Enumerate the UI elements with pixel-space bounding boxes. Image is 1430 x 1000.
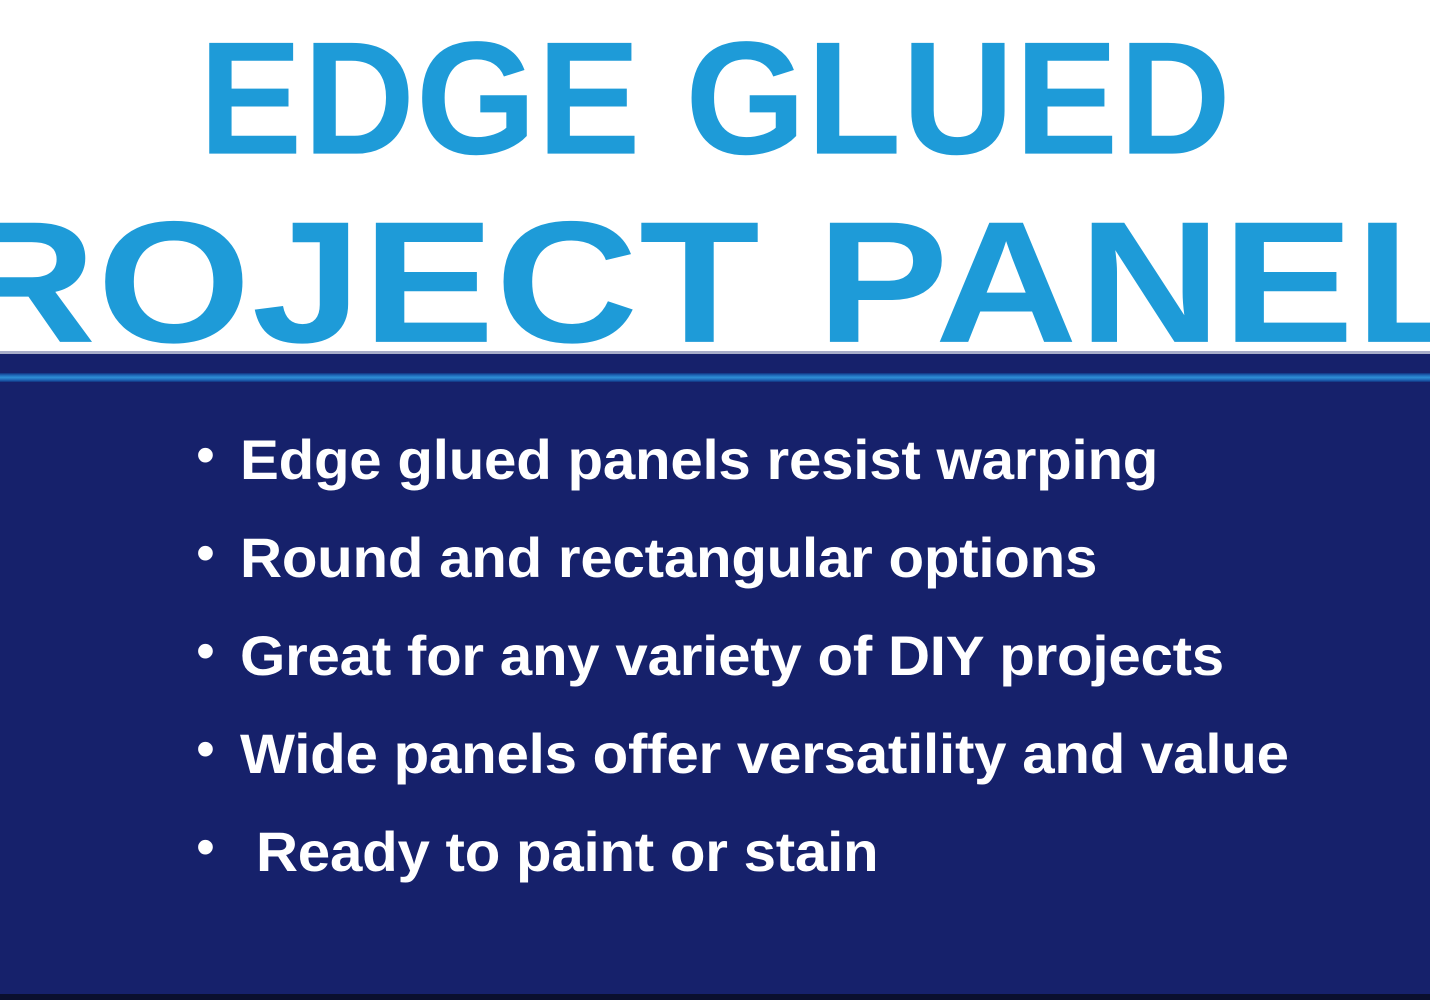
poster-header: EDGE GLUED PROJECT PANELS bbox=[0, 0, 1430, 353]
list-item-label: Great for any variety of DIY projects bbox=[240, 628, 1224, 684]
list-item-label: Round and rectangular options bbox=[240, 530, 1097, 586]
list-item: • Great for any variety of DIY projects bbox=[196, 628, 1416, 726]
bullet-point-icon: • bbox=[196, 525, 240, 581]
accent-stripe bbox=[0, 373, 1430, 382]
list-item-label: Ready to paint or stain bbox=[240, 824, 878, 880]
list-item: • Edge glued panels resist warping bbox=[196, 432, 1416, 530]
list-item: • Wide panels offer versatility and valu… bbox=[196, 726, 1416, 824]
bullet-point-icon: • bbox=[196, 427, 240, 483]
list-item-label: Edge glued panels resist warping bbox=[240, 432, 1158, 488]
bullet-point-icon: • bbox=[196, 623, 240, 679]
bullet-point-icon: • bbox=[196, 819, 240, 875]
list-item: • Ready to paint or stain bbox=[196, 824, 1416, 922]
list-item-label: Wide panels offer versatility and value bbox=[240, 726, 1289, 782]
product-feature-poster: EDGE GLUED PROJECT PANELS • Edge glued p… bbox=[0, 0, 1430, 1000]
page-title-line-2: PROJECT PANELS bbox=[0, 196, 1430, 369]
list-item: • Round and rectangular options bbox=[196, 530, 1416, 628]
feature-bullet-list: • Edge glued panels resist warping • Rou… bbox=[196, 432, 1416, 922]
page-title-line-1: EDGE GLUED bbox=[199, 18, 1232, 179]
bottom-edge-divider bbox=[0, 994, 1430, 1000]
bullet-point-icon: • bbox=[196, 721, 240, 777]
